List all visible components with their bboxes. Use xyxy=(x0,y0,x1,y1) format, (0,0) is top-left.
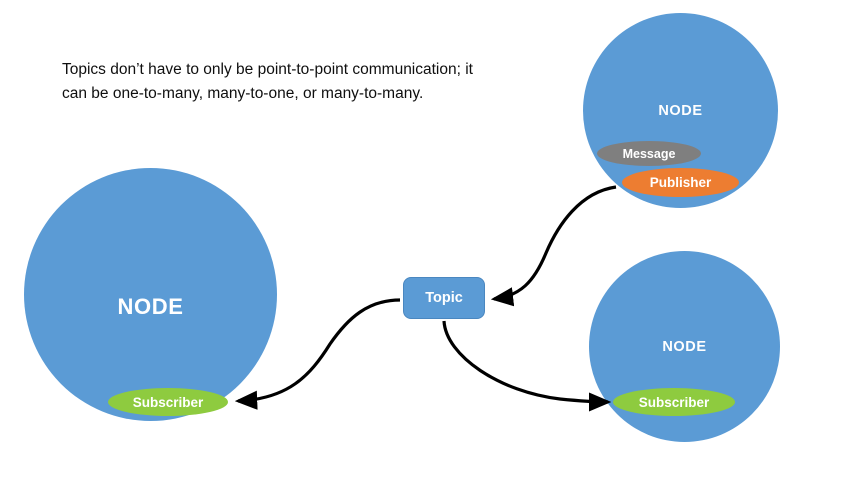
arrow-publisher-to-topic xyxy=(494,187,616,299)
subscriber-ellipse-bottom-right[interactable]: Subscriber xyxy=(613,388,735,416)
publisher-ellipse[interactable]: Publisher xyxy=(622,168,739,197)
node-bottom-right-label: NODE xyxy=(589,339,780,355)
message-ellipse[interactable]: Message xyxy=(597,141,701,166)
node-top-right-label: NODE xyxy=(583,103,778,119)
diagram-canvas: Topics don’t have to only be point-to-po… xyxy=(0,0,854,480)
node-left-label: NODE xyxy=(24,294,277,320)
caption-text: Topics don’t have to only be point-to-po… xyxy=(62,58,482,106)
arrow-topic-to-bottom-right-subscriber xyxy=(444,321,608,402)
subscriber-ellipse-left[interactable]: Subscriber xyxy=(108,388,228,416)
topic-box[interactable]: Topic xyxy=(403,277,485,319)
